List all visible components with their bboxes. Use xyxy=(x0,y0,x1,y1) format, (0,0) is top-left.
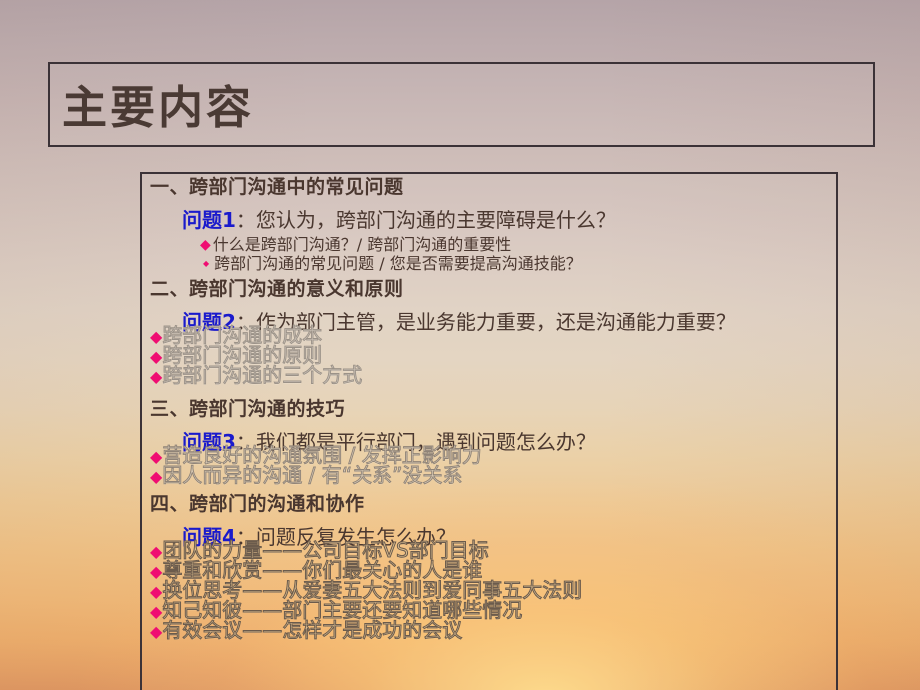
diamond-bullet-icon: ◆ xyxy=(150,447,162,466)
list-item-label: 有效会议——怎样才是成功的会议 xyxy=(162,618,462,642)
section-heading: 四、跨部门的沟通和协作 xyxy=(150,489,912,516)
section-heading: 一、跨部门沟通中的常见问题 xyxy=(150,172,912,199)
diamond-bullet-icon: ◆ xyxy=(150,347,162,366)
diamond-bullet-icon: ◆ xyxy=(150,367,162,386)
section-4: 四、跨部门的沟通和协作 问题4：问题反复发生怎么办？ ◆团队的力量——公司目标V… xyxy=(142,489,912,550)
list-item: ◆团队的力量——公司目标VS部门目标 xyxy=(150,540,582,560)
section-heading: 二、跨部门沟通的意义和原则 xyxy=(150,274,912,301)
section-3: 三、跨部门沟通的技巧 问题3：我们都是平行部门，遇到问题怎么办？ ◆营造良好的沟… xyxy=(142,394,912,455)
list-item: ◆因人而异的沟通 / 有“关系”没关系 xyxy=(150,465,482,485)
diamond-bullet-icon: ◆ xyxy=(150,602,162,621)
diamond-bullet-icon: ◆ xyxy=(150,467,162,486)
list-item-label: 跨部门沟通的常见问题 / 您是否需要提高沟通技能？ xyxy=(214,254,582,273)
question-label: 问题1 xyxy=(182,208,236,232)
presentation-slide: 主要内容 一、跨部门沟通中的常见问题 问题1：您认为，跨部门沟通的主要障碍是什么… xyxy=(0,0,920,690)
slide-title-box: 主要内容 xyxy=(48,62,875,147)
section-2: 二、跨部门沟通的意义和原则 问题2：作为部门主管，是业务能力重要，还是沟通能力重… xyxy=(142,274,912,335)
section-heading: 三、跨部门沟通的技巧 xyxy=(150,394,912,421)
diamond-bullet-icon: ◆ xyxy=(203,259,209,268)
list-item: ◆知己知彼——部门主要还要知道哪些情况 xyxy=(150,600,582,620)
list-item: ◆有效会议——怎样才是成功的会议 xyxy=(150,620,582,640)
diamond-bullet-icon: ◆ xyxy=(150,327,162,346)
diamond-bullet-icon: ◆ xyxy=(200,237,211,253)
section-1: 一、跨部门沟通中的常见问题 问题1：您认为，跨部门沟通的主要障碍是什么？ ◆什么… xyxy=(142,172,912,273)
list-item-label: 跨部门沟通的三个方式 xyxy=(162,363,362,387)
diamond-bullet-icon: ◆ xyxy=(150,582,162,601)
diamond-bullet-icon: ◆ xyxy=(150,542,162,561)
list-item: ◆什么是跨部门沟通？/ 跨部门沟通的重要性 xyxy=(200,236,912,253)
faded-bullet-list: ◆跨部门沟通的成本 ◆跨部门沟通的原则 ◆跨部门沟通的三个方式 xyxy=(150,325,362,385)
faded-bullet-list: ◆营造良好的沟通氛围 / 发挥正影响力 ◆因人而异的沟通 / 有“关系”没关系 xyxy=(150,445,482,485)
list-item-label: 因人而异的沟通 / 有“关系”没关系 xyxy=(162,463,462,487)
diamond-bullet-icon: ◆ xyxy=(150,622,162,641)
list-item: ◆换位思考——从爱妻五大法则到爱同事五大法则 xyxy=(150,580,582,600)
diamond-bullet-icon: ◆ xyxy=(150,562,162,581)
question-text: ：您认为，跨部门沟通的主要障碍是什么？ xyxy=(236,208,616,232)
content-body: 一、跨部门沟通中的常见问题 问题1：您认为，跨部门沟通的主要障碍是什么？ ◆什么… xyxy=(142,172,912,690)
section-question: 问题1：您认为，跨部门沟通的主要障碍是什么？ xyxy=(182,204,912,233)
list-item: ◆营造良好的沟通氛围 / 发挥正影响力 xyxy=(150,445,482,465)
list-item: ◆跨部门沟通的三个方式 xyxy=(150,365,362,385)
page-title: 主要内容 xyxy=(62,71,254,136)
list-item: ◆跨部门沟通的常见问题 / 您是否需要提高沟通技能？ xyxy=(200,255,912,272)
list-item: ◆尊重和欣赏——你们最关心的人是谁 xyxy=(150,560,582,580)
list-item: ◆跨部门沟通的成本 xyxy=(150,325,362,345)
list-item: ◆跨部门沟通的原则 xyxy=(150,345,362,365)
faded-bullet-list: ◆团队的力量——公司目标VS部门目标 ◆尊重和欣赏——你们最关心的人是谁 ◆换位… xyxy=(150,540,582,640)
list-item-label: 什么是跨部门沟通？/ 跨部门沟通的重要性 xyxy=(213,235,511,254)
